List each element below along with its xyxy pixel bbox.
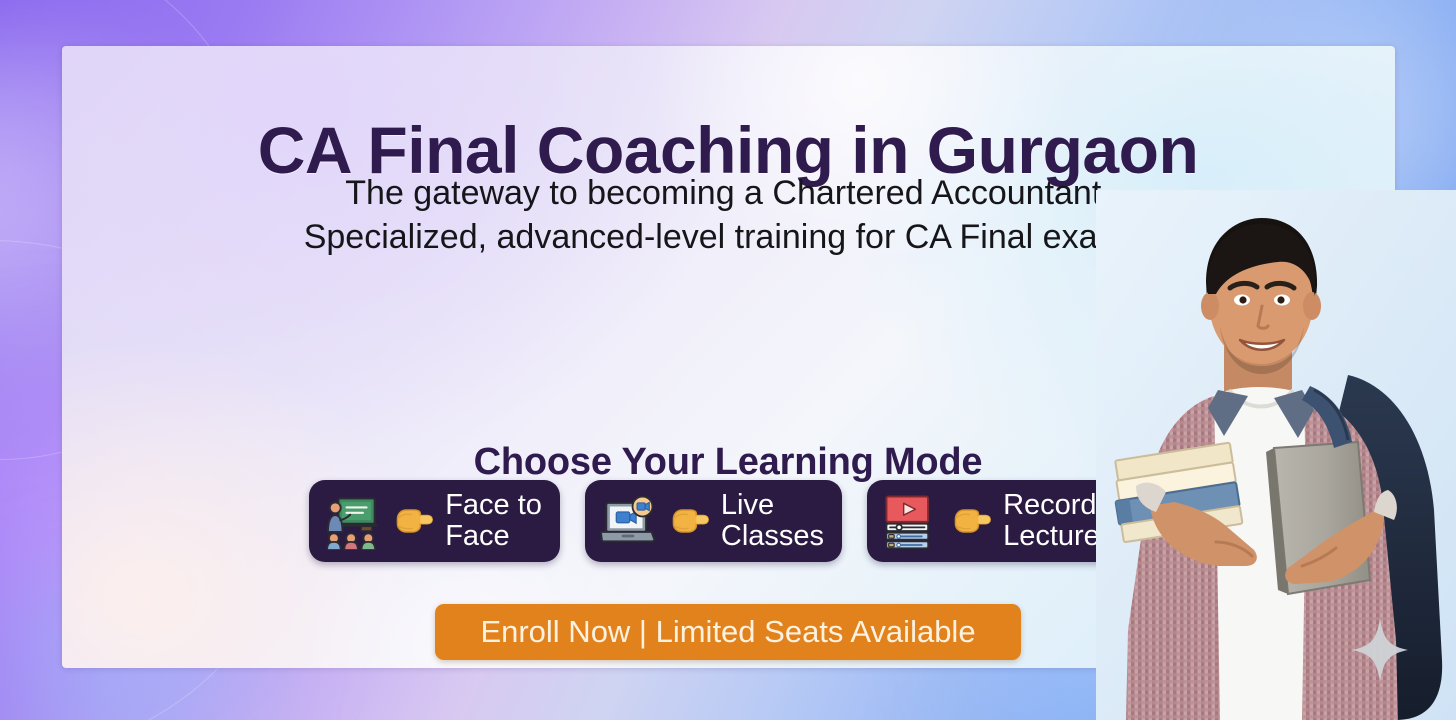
promotional-banner: CA Final Coaching in Gurgaon The gateway…: [0, 0, 1456, 720]
mode-option-recorded-lectures[interactable]: Recorded Lectures: [867, 480, 1147, 562]
subtitle-line-2: Specialized, advanced-level training for…: [0, 216, 1456, 260]
enroll-now-button[interactable]: Enroll Now | Limited Seats Available: [435, 604, 1021, 660]
mode-option-live-classes[interactable]: Live Classes: [585, 480, 842, 562]
classroom-teacher-icon: [323, 492, 381, 550]
laptop-video-camera-icon: [599, 492, 657, 550]
learning-mode-options: Face to Face: [0, 480, 1456, 562]
banner-content: CA Final Coaching in Gurgaon The gateway…: [0, 0, 1456, 720]
mode-label-recorded-lectures: Recorded Lectures: [1003, 490, 1129, 553]
mode-label-live-classes: Live Classes: [721, 490, 824, 553]
pointing-hand-right-icon: [667, 499, 711, 543]
pointing-hand-right-icon: [391, 499, 435, 543]
section-heading-learning-mode: Choose Your Learning Mode: [0, 441, 1456, 484]
video-playlist-icon: [881, 492, 939, 550]
mode-option-face-to-face[interactable]: Face to Face: [309, 480, 560, 562]
pointing-hand-right-icon: [949, 499, 993, 543]
mode-label-face-to-face: Face to Face: [445, 490, 542, 553]
subtitle-line-1: The gateway to becoming a Chartered Acco…: [0, 172, 1456, 216]
subtitle: The gateway to becoming a Chartered Acco…: [0, 172, 1456, 259]
